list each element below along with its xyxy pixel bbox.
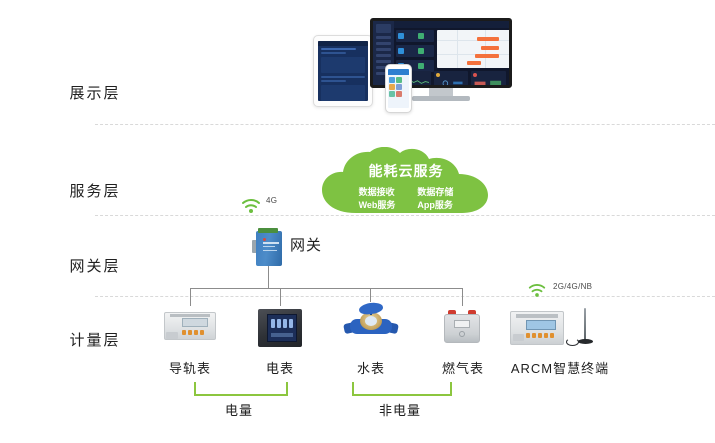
monitor-stand-neck bbox=[429, 88, 453, 96]
gateway-led bbox=[263, 238, 266, 241]
rail-meter-label: 导轨表 bbox=[150, 358, 230, 377]
monitor-map bbox=[437, 30, 511, 68]
rail-meter-button bbox=[194, 330, 198, 335]
arcm-lcd bbox=[526, 320, 556, 330]
cloud-items: 数据接收 Web服务 数据存储 App服务 bbox=[359, 186, 454, 211]
tablet-screen-row bbox=[321, 80, 346, 82]
antenna-icon bbox=[584, 308, 586, 340]
rail-meter-button bbox=[182, 330, 186, 335]
connector-branch-gas bbox=[462, 288, 463, 306]
gateway-marking bbox=[263, 250, 277, 251]
arcm-header bbox=[516, 314, 558, 318]
gateway-marking bbox=[263, 246, 275, 247]
wifi-icon bbox=[527, 281, 547, 298]
monitor-sidebar-item bbox=[376, 42, 391, 45]
map-marker bbox=[481, 46, 499, 50]
divider-service-gateway bbox=[95, 215, 715, 216]
electric-meter-digits bbox=[271, 319, 293, 328]
monitor-stand-base bbox=[412, 96, 470, 101]
gateway-uplink-label: 4G bbox=[266, 196, 277, 205]
smartphone-device bbox=[385, 64, 412, 113]
phone-app-tile bbox=[396, 91, 402, 97]
monitor-sidebar-logo bbox=[376, 24, 391, 33]
gateway-device bbox=[252, 226, 286, 266]
monitor-stat-card bbox=[396, 45, 434, 57]
cloud-item-data-receive: 数据接收 bbox=[359, 186, 396, 198]
panel-dot bbox=[436, 73, 440, 77]
water-meter-label: 水表 bbox=[336, 358, 406, 377]
arcm-buttons bbox=[526, 333, 554, 338]
arcm-button bbox=[532, 333, 536, 338]
layer-label-metering: 计量层 bbox=[0, 329, 190, 350]
arcm-button bbox=[526, 333, 530, 338]
rail-meter-header bbox=[170, 314, 210, 317]
map-marker bbox=[477, 37, 499, 41]
electric-meter-digit bbox=[289, 319, 293, 328]
cloud-item-app-service: App服务 bbox=[417, 199, 453, 211]
map-marker bbox=[467, 61, 481, 65]
electric-meter-digit bbox=[277, 319, 281, 328]
tablet-device bbox=[313, 35, 373, 107]
cloud-item-data-storage: 数据存储 bbox=[417, 186, 453, 198]
arcm-button bbox=[538, 333, 542, 338]
cloud-text-block: 能耗云服务 数据接收 Web服务 数据存储 App服务 bbox=[316, 147, 496, 215]
architecture-diagram: 展示层 服务层 网关层 计量层 bbox=[0, 0, 715, 443]
energy-cloud-service: 能耗云服务 数据接收 Web服务 数据存储 App服务 bbox=[316, 147, 496, 215]
cloud-items-left: 数据接收 Web服务 bbox=[359, 186, 396, 211]
layer-label-display: 展示层 bbox=[0, 82, 190, 103]
connector-gateway-down bbox=[268, 266, 269, 288]
gas-meter-body bbox=[444, 314, 480, 343]
layer-label-service: 服务层 bbox=[0, 180, 190, 201]
electric-group-bracket bbox=[194, 382, 288, 396]
terminal-uplink-label: 2G/4G/NB bbox=[553, 282, 592, 291]
cloud-items-right: 数据存储 App服务 bbox=[417, 186, 453, 211]
monitor-topbar bbox=[394, 21, 509, 28]
water-meter-graphic bbox=[344, 303, 398, 343]
divider-display-service bbox=[95, 124, 715, 125]
monitor-gauge-panel bbox=[434, 71, 469, 88]
electric-meter-device bbox=[258, 309, 302, 349]
arcm-terminal-block bbox=[513, 334, 524, 341]
arcm-button bbox=[544, 333, 548, 338]
tablet-screen-row bbox=[321, 48, 356, 50]
non-electric-group-label: 非电量 bbox=[352, 400, 448, 419]
electric-meter-digit bbox=[283, 319, 287, 328]
map-marker bbox=[475, 54, 499, 58]
phone-app-tile bbox=[396, 77, 402, 83]
non-electric-group-bracket bbox=[352, 382, 452, 396]
gas-meter-display bbox=[454, 320, 470, 328]
map-road bbox=[437, 40, 511, 41]
arcm-terminal-graphic bbox=[510, 308, 600, 352]
monitor-sidebar-item bbox=[376, 54, 391, 57]
water-meter-device bbox=[344, 303, 398, 343]
rail-meter-terminal bbox=[166, 332, 178, 339]
rail-meter-lcd bbox=[182, 318, 208, 327]
layer-label-gateway: 网关层 bbox=[0, 255, 190, 276]
water-meter-lid bbox=[358, 301, 383, 315]
monitor-sidebar-item bbox=[376, 60, 391, 63]
tablet-screen-header bbox=[318, 41, 368, 46]
tablet-screen-block bbox=[321, 85, 365, 101]
rail-meter-device bbox=[164, 310, 216, 342]
connector-bus bbox=[190, 288, 462, 289]
panel-dot bbox=[473, 73, 477, 77]
antenna-cable bbox=[566, 338, 579, 346]
monitor-stat-card bbox=[396, 30, 434, 42]
gas-meter-device bbox=[442, 308, 482, 344]
map-road bbox=[437, 54, 511, 55]
tablet-screen-block bbox=[321, 57, 365, 73]
phone-app-tile bbox=[396, 84, 402, 90]
connector-branch-water bbox=[370, 288, 371, 302]
rail-meter-button bbox=[200, 330, 204, 335]
monitor-table-panel bbox=[471, 71, 506, 88]
tablet-screen-row bbox=[321, 52, 346, 54]
gateway-label: 网关 bbox=[290, 234, 322, 255]
rail-meter-graphic bbox=[164, 310, 216, 342]
arcm-terminal-device bbox=[510, 308, 600, 352]
connector-branch-rail bbox=[190, 288, 191, 306]
gateway-marking bbox=[263, 242, 279, 244]
electric-meter-digit bbox=[271, 319, 275, 328]
arcm-button bbox=[550, 333, 554, 338]
gateway-body bbox=[256, 231, 282, 266]
wifi-icon bbox=[240, 196, 262, 214]
monitor-sidebar-item bbox=[376, 48, 391, 51]
tablet-screen-row bbox=[321, 76, 365, 78]
connector-branch-electric bbox=[280, 288, 281, 306]
divider-gateway-metering bbox=[95, 296, 715, 297]
gateway-terminal-block bbox=[258, 228, 278, 233]
electric-meter-graphic bbox=[258, 309, 302, 349]
map-road bbox=[457, 30, 458, 68]
rail-meter-button bbox=[188, 330, 192, 335]
phone-app-grid bbox=[388, 75, 409, 99]
electric-meter-footer bbox=[271, 333, 293, 337]
gas-meter-graphic bbox=[442, 308, 482, 344]
rail-meter-buttons bbox=[182, 330, 204, 335]
electric-meter-label: 电表 bbox=[244, 358, 316, 377]
gauge-icon bbox=[436, 79, 467, 86]
monitor-bottom-panels bbox=[396, 71, 506, 88]
cloud-title: 能耗云服务 bbox=[369, 161, 444, 181]
gas-meter-label: 燃气表 bbox=[426, 358, 500, 377]
phone-screen bbox=[388, 69, 409, 108]
phone-app-tile bbox=[389, 77, 395, 83]
phone-app-tile bbox=[389, 91, 395, 97]
tablet-frame bbox=[313, 35, 373, 107]
electric-group-label: 电量 bbox=[194, 400, 284, 419]
tablet-screen bbox=[318, 41, 368, 101]
arcm-terminal-label: ARCM智慧终端 bbox=[500, 358, 620, 377]
gas-meter-dial bbox=[459, 331, 465, 337]
monitor-sidebar-item bbox=[376, 36, 391, 39]
antenna-base bbox=[578, 339, 593, 344]
cloud-item-web-service: Web服务 bbox=[359, 199, 396, 211]
water-meter-glass bbox=[365, 316, 377, 326]
phone-frame bbox=[385, 64, 412, 113]
bars-icon bbox=[473, 79, 504, 86]
phone-app-tile bbox=[389, 84, 395, 90]
